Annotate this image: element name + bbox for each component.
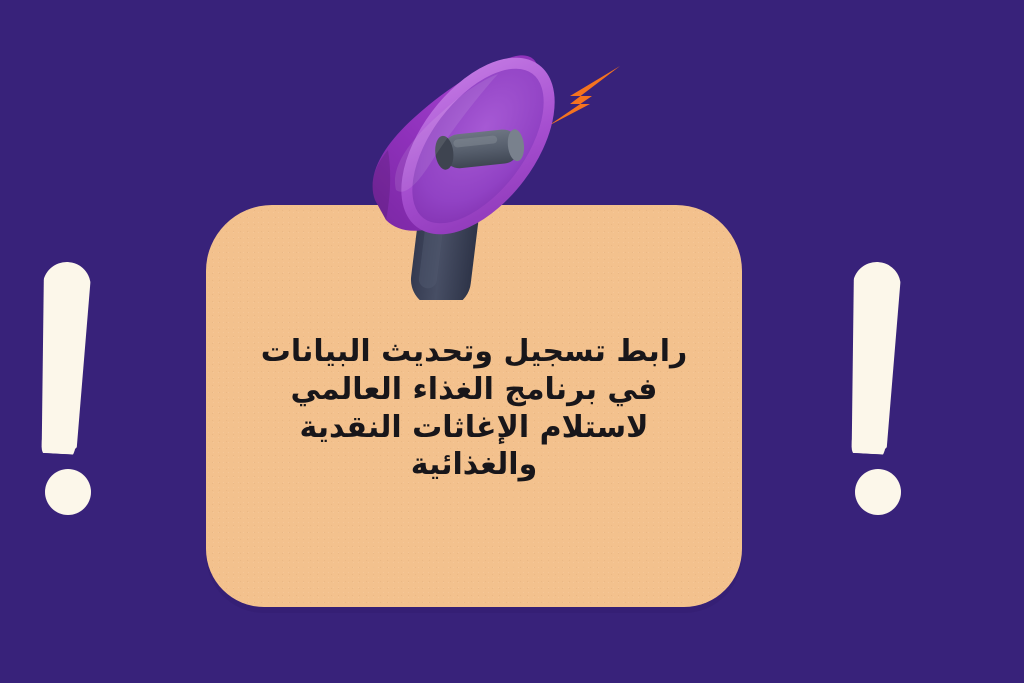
exclamation-dot <box>855 469 901 515</box>
megaphone-icon <box>330 40 580 300</box>
headline-text: رابط تسجيل وتحديث البيانات في برنامج الغ… <box>206 333 742 484</box>
exclamation-mark-icon-right <box>828 262 948 532</box>
exclamation-stem <box>34 261 92 455</box>
announcement-poster: رابط تسجيل وتحديث البيانات في برنامج الغ… <box>0 0 1024 683</box>
exclamation-mark-icon-left <box>18 262 138 532</box>
exclamation-dot <box>45 469 91 515</box>
exclamation-stem <box>844 261 902 455</box>
